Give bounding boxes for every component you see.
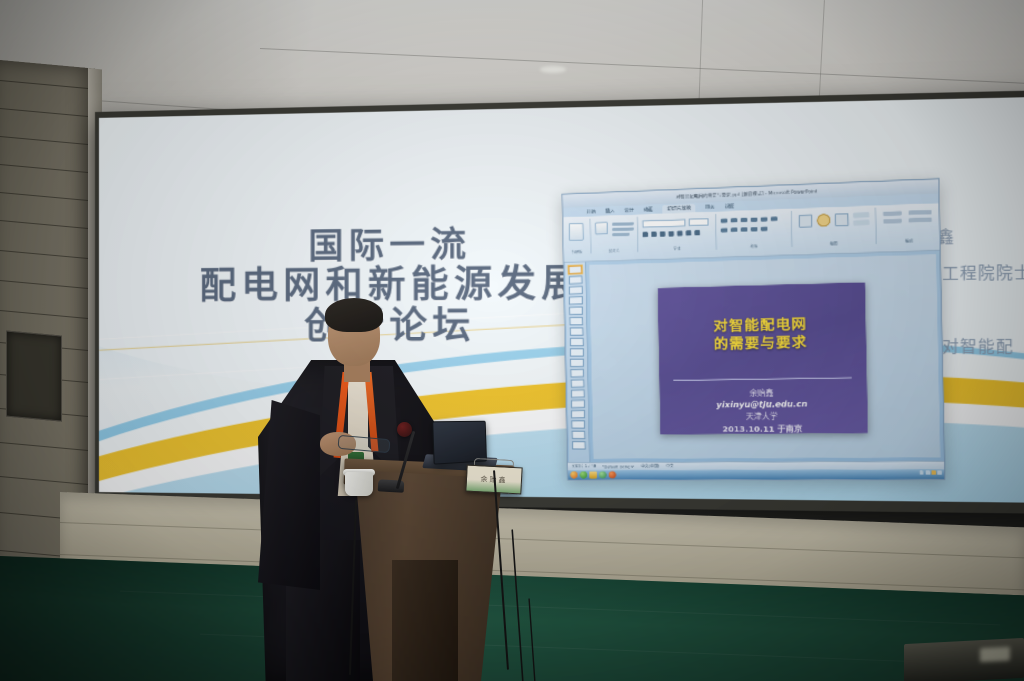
projected-powerpoint-window[interactable]: 对智能配电网的需要与要求.ppt [兼容模式] - Microsoft Powe… — [562, 178, 946, 480]
slide-thumbnail[interactable] — [571, 379, 585, 387]
slide-date-place: 2013.10.11 于南京 — [660, 422, 868, 434]
slide-thumbnail[interactable] — [571, 400, 585, 408]
slide-thumbnail[interactable] — [569, 296, 583, 304]
slide-thumbnail[interactable] — [568, 265, 582, 273]
editor-body: 对智能配电网 的需要与要求 余贻鑫 yixinyu@tju.edu.cn 天津大… — [564, 251, 944, 462]
font-name-combo[interactable] — [642, 219, 686, 228]
slide-thumbnail[interactable] — [571, 421, 585, 429]
tab-动画[interactable]: 动画 — [643, 206, 653, 213]
browser-icon[interactable] — [580, 471, 587, 478]
ribbon-group-label: 段落 — [717, 242, 792, 250]
slide-thumbnail[interactable] — [572, 441, 586, 449]
folder-icon[interactable] — [589, 471, 596, 478]
paste-button[interactable] — [569, 223, 584, 241]
slide-thumbnail-panel[interactable] — [565, 262, 590, 462]
slide-thumbnail[interactable] — [570, 338, 584, 346]
slide-thumbnail[interactable] — [572, 431, 586, 439]
tray-icon[interactable] — [925, 471, 929, 475]
tab-插入[interactable]: 插入 — [605, 208, 615, 215]
font-size-combo[interactable] — [689, 218, 709, 226]
ribbon-group-label: 编辑 — [877, 237, 942, 245]
media-icon[interactable] — [599, 471, 606, 478]
taskbar[interactable] — [568, 469, 944, 479]
slide-thumbnail[interactable] — [570, 358, 584, 366]
ribbon-group-label: 剪贴板 — [564, 248, 591, 254]
projection-screen: 国际一流 配电网和新能源发展 创新论坛 一日 ⌄ 报 告 人 ： 余贻鑫 ⌄ — [95, 89, 1024, 514]
ribbon-group-label: 幻灯片 — [591, 247, 637, 254]
slide-thumbnail[interactable] — [569, 317, 583, 325]
conference-room-scene: 国际一流 配电网和新能源发展 创新论坛 一日 ⌄ 报 告 人 ： 余贻鑫 ⌄ — [0, 0, 1024, 681]
tab-视图[interactable]: 视图 — [725, 203, 735, 210]
slide-thumbnail[interactable] — [569, 286, 583, 294]
new-slide-button[interactable] — [595, 222, 608, 235]
slide-thumbnail[interactable] — [571, 410, 585, 418]
tab-设计[interactable]: 设计 — [624, 207, 634, 214]
slide-title-line2: 的需要与要求 — [658, 333, 866, 355]
start-button-icon[interactable] — [570, 472, 577, 479]
tab-开始[interactable]: 开始 — [586, 208, 595, 215]
tray-icon[interactable] — [919, 471, 923, 475]
tray-icon[interactable] — [938, 471, 942, 475]
status-theme: "Default Design" — [602, 464, 634, 468]
microphone-icon — [397, 422, 412, 437]
slide-divider — [673, 377, 851, 381]
lectern-column — [392, 560, 458, 681]
status-language: 中文(中国) — [641, 464, 660, 469]
ribbon-group-label: 绘图 — [792, 239, 875, 247]
slide-thumbnail[interactable] — [569, 307, 583, 315]
tray-icon[interactable] — [932, 471, 936, 475]
status-slide-counter: 幻灯片 1 / 46 — [572, 464, 596, 469]
ribbon-group-label: 字体 — [638, 244, 715, 252]
slide-thumbnail[interactable] — [570, 348, 584, 356]
system-tray[interactable] — [919, 471, 941, 475]
slide-thumbnail[interactable] — [571, 389, 585, 397]
water-cup — [345, 472, 373, 496]
powerpoint-icon[interactable] — [608, 471, 615, 478]
floor-monitor — [904, 638, 1024, 681]
slide-thumbnail[interactable] — [570, 327, 584, 335]
speaker-hair — [325, 298, 383, 332]
banner-title-line3: 创新论坛 — [154, 306, 635, 349]
tab-审阅[interactable]: 审阅 — [705, 204, 715, 211]
slide-thumbnail[interactable] — [569, 276, 583, 284]
wall-access-panel — [6, 331, 62, 422]
slide-thumbnail[interactable] — [570, 369, 584, 377]
slide-subtitle-block: 余贻鑫 yixinyu@tju.edu.cn 天津大学 2013.10.11 于… — [659, 385, 867, 434]
slide-canvas[interactable]: 对智能配电网 的需要与要求 余贻鑫 yixinyu@tju.edu.cn 天津大… — [589, 254, 940, 458]
current-slide[interactable]: 对智能配电网 的需要与要求 余贻鑫 yixinyu@tju.edu.cn 天津大… — [657, 282, 867, 434]
slide-title: 对智能配电网 的需要与要求 — [658, 314, 866, 355]
status-input-method: 中文 — [666, 464, 674, 469]
